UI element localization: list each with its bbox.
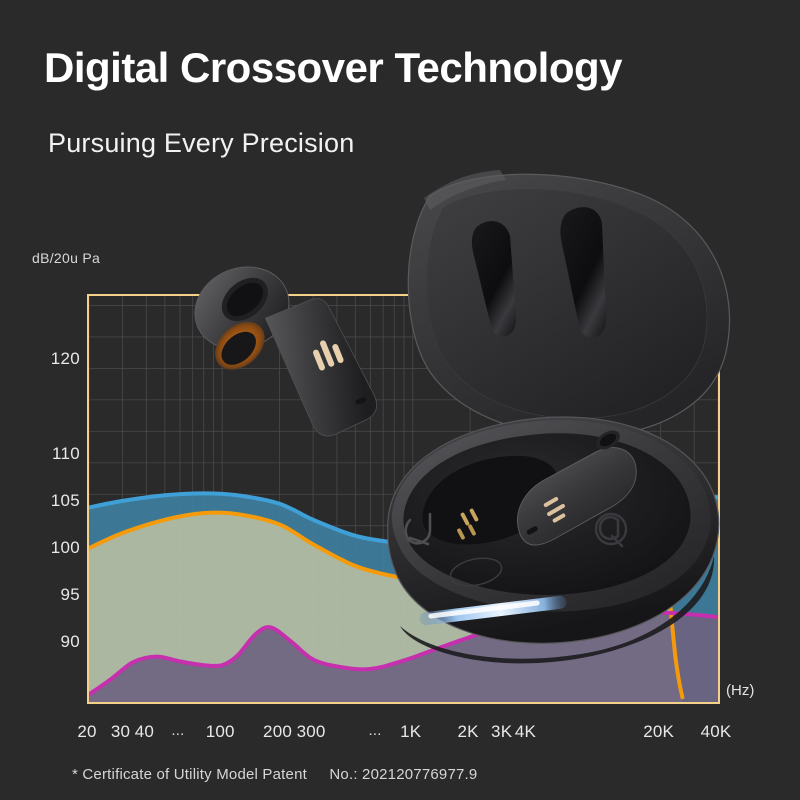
y-tick-90: 90 (20, 632, 80, 652)
chart-canvas (89, 296, 718, 702)
y-tick-100: 100 (20, 538, 80, 558)
x-tick-30: 30 (111, 722, 130, 742)
x-tick-20: 20 (77, 722, 96, 742)
x-tick-40: 40 (135, 722, 154, 742)
page-subtitle: Pursuing Every Precision (48, 128, 354, 159)
x-tick-3K: 3K (491, 722, 512, 742)
x-tick-300: 300 (297, 722, 326, 742)
y-tick-105: 105 (20, 491, 80, 511)
y-tick-95: 95 (20, 585, 80, 605)
marketing-banner: Digital Crossover Technology Pursuing Ev… (0, 0, 800, 800)
x-tick-100: 100 (206, 722, 235, 742)
footnote-patent-number: No.: 202120776977.9 (329, 766, 477, 783)
y-tick-120: 120 (20, 349, 80, 369)
frequency-response-chart (87, 294, 720, 704)
x-tick-200: 200 (263, 722, 292, 742)
x-tick-20K: 20K (643, 722, 674, 742)
x-tick-4K: 4K (515, 722, 536, 742)
y-tick-110: 110 (20, 444, 80, 464)
footnote-certificate: * Certificate of Utility Model Patent (72, 766, 307, 783)
y-axis-tick-labels: 1201101051009590 (20, 0, 80, 800)
x-tick-dotsdotsdots: ... (171, 722, 184, 739)
x-axis-unit-label: (Hz) (726, 682, 754, 699)
x-tick-1K: 1K (400, 722, 421, 742)
x-tick-2K: 2K (457, 722, 478, 742)
x-tick-dotsdotsdots: ... (369, 722, 382, 739)
page-title: Digital Crossover Technology (44, 44, 622, 92)
x-tick-40K: 40K (701, 722, 732, 742)
footnote: * Certificate of Utility Model Patent No… (72, 766, 477, 783)
